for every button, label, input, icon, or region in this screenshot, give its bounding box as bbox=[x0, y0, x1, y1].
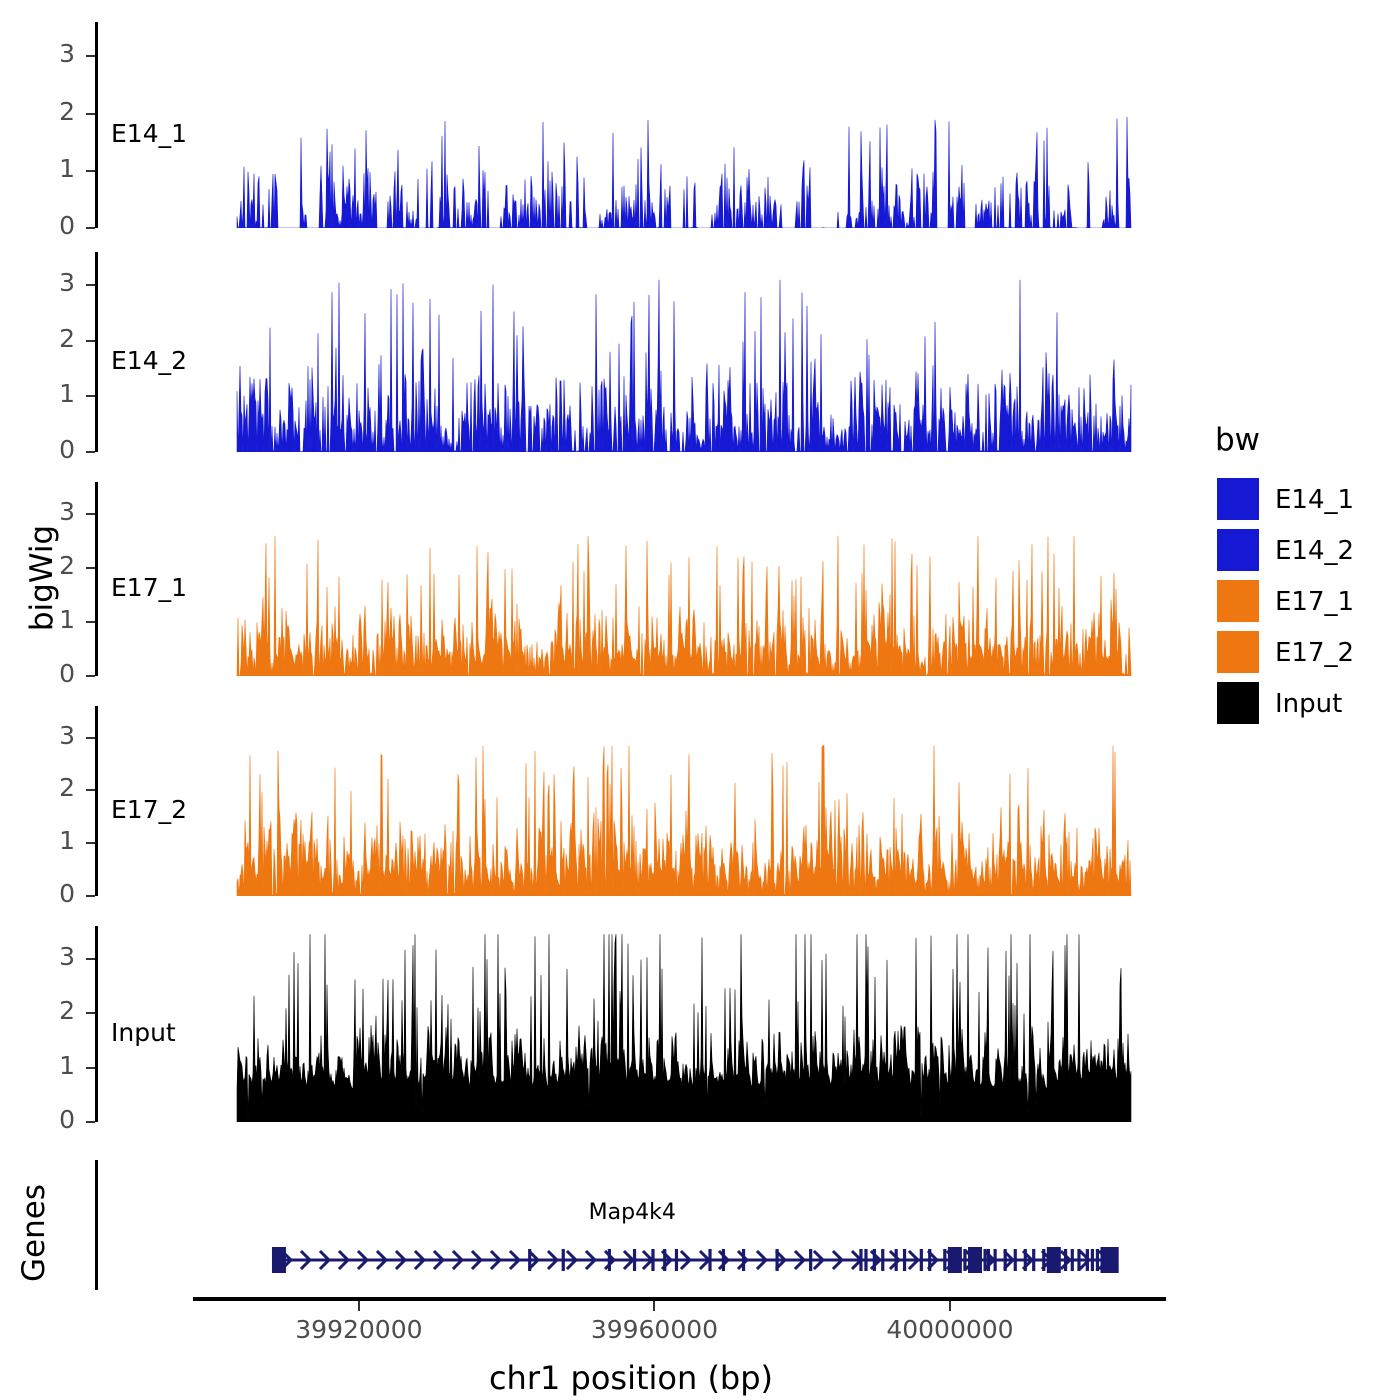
x-tick-label: 39920000 bbox=[249, 1315, 469, 1344]
y-tick-label: 2 bbox=[7, 97, 75, 126]
legend-key-e17_1[interactable] bbox=[1217, 580, 1259, 622]
y-tick-label: 0 bbox=[7, 1105, 75, 1134]
y-tick-label: 3 bbox=[7, 268, 75, 297]
y-tick-label: 3 bbox=[7, 39, 75, 68]
y-tick bbox=[86, 170, 95, 172]
y-tick bbox=[86, 340, 95, 342]
y-tick-label: 3 bbox=[7, 942, 75, 971]
wiggle-track-e14_1 bbox=[97, 22, 1165, 228]
y-tick-label: 2 bbox=[7, 551, 75, 580]
y-tick-label: 1 bbox=[7, 1051, 75, 1080]
x-tick-label: 39960000 bbox=[544, 1315, 764, 1344]
y-tick-label: 2 bbox=[7, 773, 75, 802]
legend-key-e17_2[interactable] bbox=[1217, 631, 1259, 673]
legend-key-e14_2[interactable] bbox=[1217, 529, 1259, 571]
wiggle-track-e17_1 bbox=[97, 482, 1165, 676]
y-tick bbox=[86, 675, 95, 677]
x-tick-label: 40000000 bbox=[840, 1315, 1060, 1344]
wiggle-track-input bbox=[97, 926, 1165, 1122]
y-tick-label: 0 bbox=[7, 435, 75, 464]
genome-browser-plot: bigWig Genes 0123E14_10123E14_20123E17_1… bbox=[0, 0, 1400, 1400]
y-tick bbox=[86, 1121, 95, 1123]
legend-title: bw bbox=[1215, 422, 1260, 458]
y-tick bbox=[86, 1012, 95, 1014]
y-tick bbox=[86, 958, 95, 960]
y-tick bbox=[86, 227, 95, 229]
legend-label-e14_2: E14_2 bbox=[1275, 536, 1354, 566]
y-tick-label: 3 bbox=[7, 497, 75, 526]
y-tick-label: 0 bbox=[7, 659, 75, 688]
y-tick bbox=[86, 621, 95, 623]
y-tick bbox=[86, 113, 95, 115]
y-tick-label: 1 bbox=[7, 826, 75, 855]
y-tick bbox=[86, 737, 95, 739]
y-tick-label: 1 bbox=[7, 154, 75, 183]
x-axis-line bbox=[193, 1297, 1166, 1301]
x-tick bbox=[949, 1301, 951, 1311]
y-axis-title-genes: Genes bbox=[16, 1173, 52, 1293]
legend-label-e17_2: E17_2 bbox=[1275, 638, 1354, 668]
y-tick-label: 3 bbox=[7, 721, 75, 750]
y-tick-label: 0 bbox=[7, 879, 75, 908]
wiggle-track-e17_2 bbox=[97, 706, 1165, 896]
x-tick bbox=[358, 1301, 360, 1311]
legend-key-input[interactable] bbox=[1217, 682, 1259, 724]
y-tick-label: 0 bbox=[7, 211, 75, 240]
legend-label-e17_1: E17_1 bbox=[1275, 587, 1354, 617]
y-tick-label: 1 bbox=[7, 605, 75, 634]
gene-model-map4k4[interactable] bbox=[97, 1160, 1165, 1290]
y-tick bbox=[86, 895, 95, 897]
y-tick-label: 2 bbox=[7, 996, 75, 1025]
y-tick bbox=[86, 513, 95, 515]
legend-key-e14_1[interactable] bbox=[1217, 478, 1259, 520]
y-tick-label: 2 bbox=[7, 324, 75, 353]
wiggle-track-e14_2 bbox=[97, 252, 1165, 452]
y-tick bbox=[86, 451, 95, 453]
y-tick bbox=[86, 842, 95, 844]
gene-name-label: Map4k4 bbox=[502, 1200, 762, 1225]
y-tick bbox=[86, 284, 95, 286]
y-tick bbox=[86, 395, 95, 397]
y-tick bbox=[86, 789, 95, 791]
y-tick bbox=[86, 55, 95, 57]
x-tick bbox=[653, 1301, 655, 1311]
x-axis-title: chr1 position (bp) bbox=[97, 1359, 1165, 1397]
y-tick bbox=[86, 567, 95, 569]
y-tick bbox=[86, 1067, 95, 1069]
legend-label-input: Input bbox=[1275, 689, 1342, 719]
legend-label-e14_1: E14_1 bbox=[1275, 485, 1354, 515]
y-tick-label: 1 bbox=[7, 379, 75, 408]
